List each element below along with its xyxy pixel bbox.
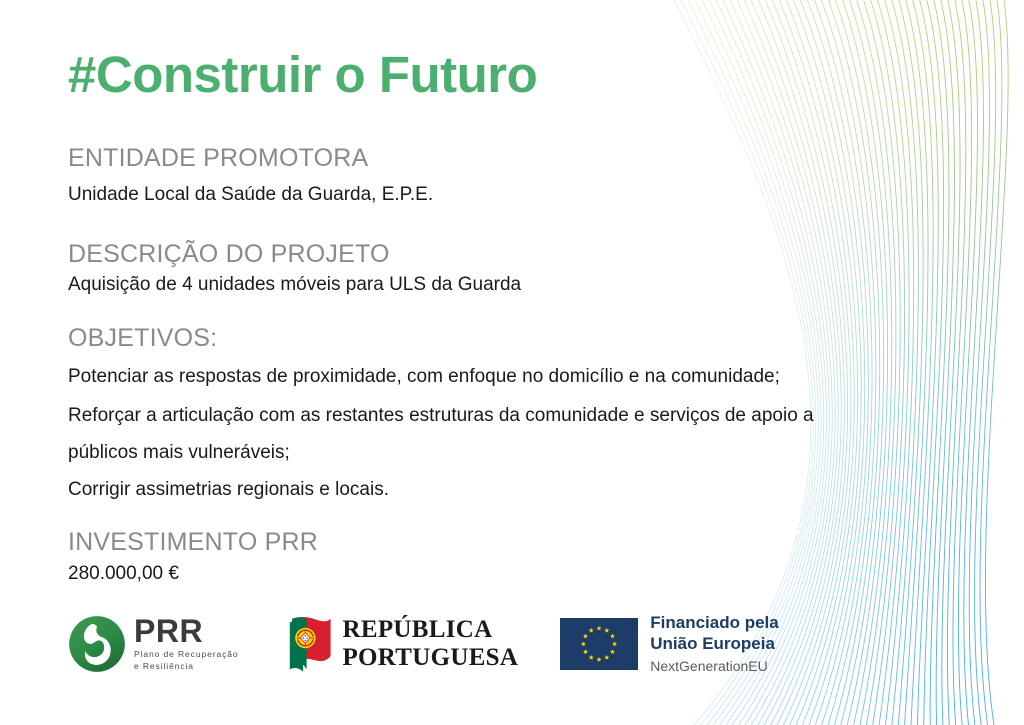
rp-line2: PORTUGUESA: [342, 644, 518, 672]
section-heading-entidade-promotora: ENTIDADE PROMOTORA: [68, 144, 368, 173]
portugal-flag-shield-icon: [286, 614, 332, 674]
section-heading-descricao-do-projeto: DESCRIÇÃO DO PROJETO: [68, 240, 390, 269]
logo-prr: PRR Plano de Recuperação e Resiliência: [68, 615, 238, 673]
objetivos-line: Potenciar as respostas de proximidade, c…: [68, 366, 780, 388]
logo-republica-portuguesa: REPÚBLICA PORTUGUESA: [286, 614, 518, 674]
eu-subtitle: NextGenerationEU: [650, 657, 778, 675]
eu-wordmark: Financiado pela União Europeia NextGener…: [650, 613, 778, 675]
objetivos-line: Corrigir assimetrias regionais e locais.: [68, 479, 389, 501]
prr-tagline-line1: Plano de Recuperação: [134, 649, 238, 660]
republica-portuguesa-wordmark: REPÚBLICA PORTUGUESA: [342, 616, 518, 672]
poster-canvas: #Construir o Futuro ENTIDADE PROMOTORA U…: [0, 0, 1024, 725]
prr-wordmark: PRR Plano de Recuperação e Resiliência: [134, 615, 238, 672]
section-text-descricao-do-projeto: Aquisição de 4 unidades móveis para ULS …: [68, 274, 521, 296]
eu-line1: Financiado pela: [650, 613, 778, 634]
eu-flag-icon: [560, 618, 638, 670]
rp-line1: REPÚBLICA: [342, 616, 518, 644]
poster-content: #Construir o Futuro ENTIDADE PROMOTORA U…: [68, 0, 898, 725]
eu-line2: União Europeia: [650, 634, 778, 655]
logo-uniao-europeia: Financiado pela União Europeia NextGener…: [560, 613, 778, 675]
section-heading-objetivos: OBJETIVOS:: [68, 324, 217, 353]
section-text-entidade-promotora: Unidade Local da Saúde da Guarda, E.P.E.: [68, 184, 433, 206]
prr-acronym: PRR: [134, 615, 238, 648]
section-heading-investimento-prr: INVESTIMENTO PRR: [68, 528, 318, 557]
prr-circle-icon: [68, 615, 126, 673]
prr-tagline-line2: e Resiliência: [134, 661, 238, 672]
objetivos-line: Reforçar a articulação com as restantes …: [68, 405, 814, 427]
objetivos-line: públicos mais vulneráveis;: [68, 442, 290, 464]
logo-strip: PRR Plano de Recuperação e Resiliência: [68, 608, 779, 680]
investimento-amount: 280.000,00 €: [68, 563, 179, 585]
page-title: #Construir o Futuro: [68, 49, 537, 100]
